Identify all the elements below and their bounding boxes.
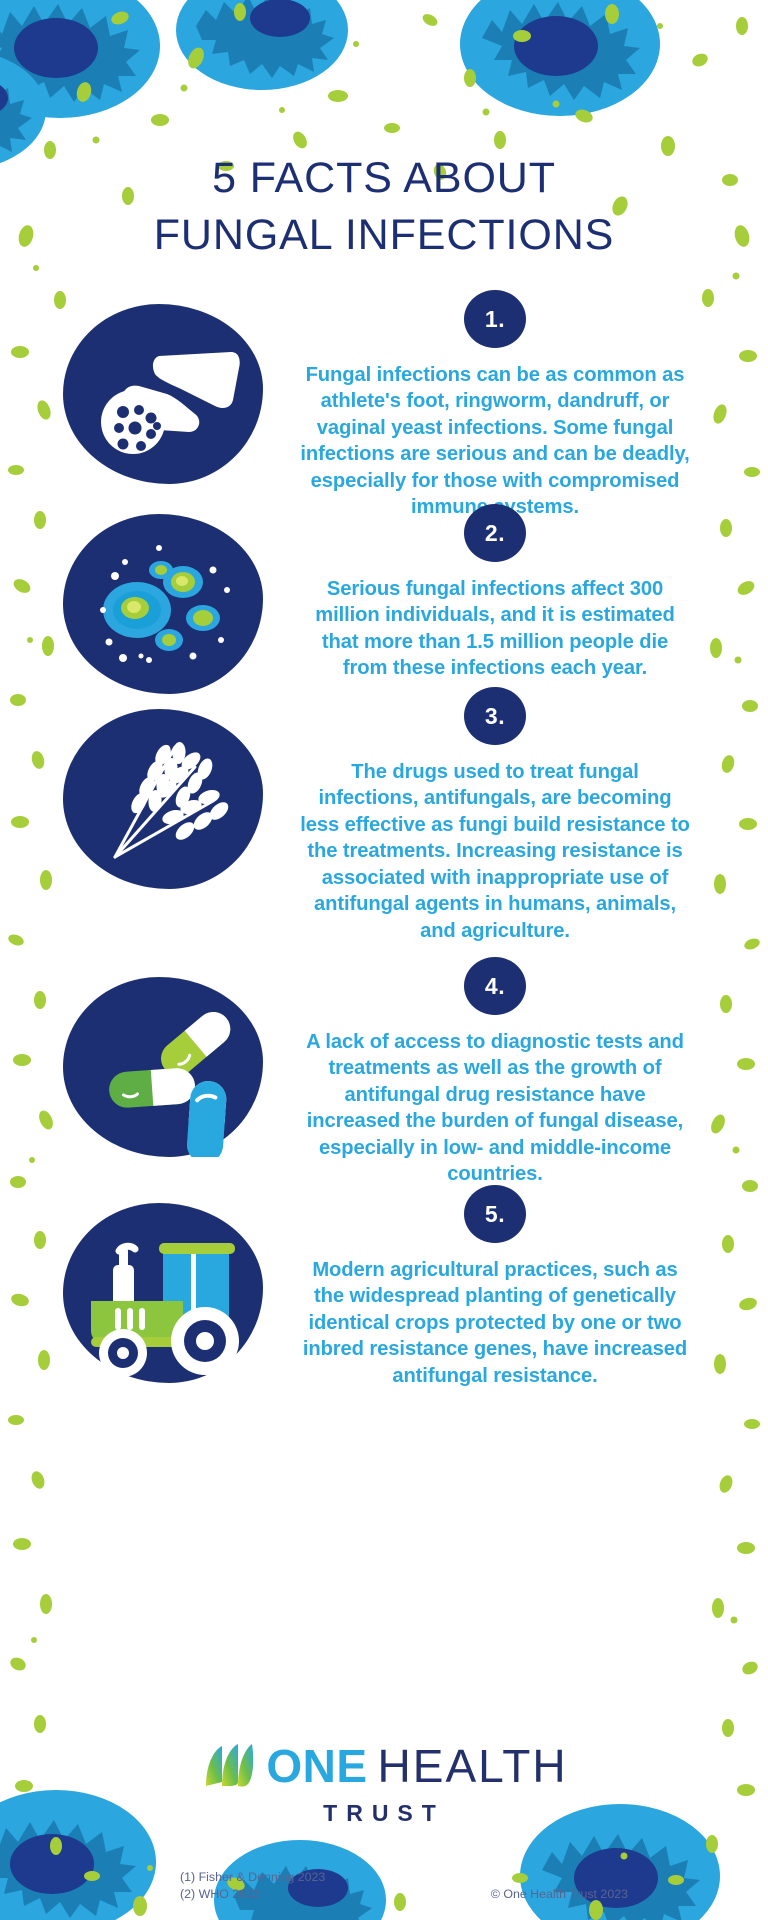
tractor-icon <box>63 1203 263 1383</box>
fact-body-1: 1. Fungal infections can be as common as… <box>300 290 700 521</box>
logo-row[interactable]: ONE HEALTH <box>0 1742 768 1790</box>
wheat-stalks-icon <box>63 709 263 889</box>
fact-item-5: 5. Modern agricultural practices, such a… <box>0 1185 768 1385</box>
foot-fungus-icon <box>63 304 263 484</box>
fact-text-1: Fungal infections can be as common as at… <box>300 362 690 521</box>
fact-number-badge-5: 5. <box>464 1185 526 1243</box>
title-line-2: FUNGAL INFECTIONS <box>0 207 768 264</box>
facts-list: 1. Fungal infections can be as common as… <box>0 290 768 1385</box>
fact-number-badge-3: 3. <box>464 687 526 745</box>
petri-dish-colonies-icon <box>63 514 263 694</box>
cell-top-left <box>0 0 160 118</box>
infographic-page: 5 FACTS ABOUT FUNGAL INFECTIONS <box>0 0 768 1920</box>
citation-1: (1) Fisher & Denning 2023 <box>180 1869 325 1885</box>
cell-top-right <box>460 0 660 116</box>
fact-body-3: 3. The drugs used to treat fungal infect… <box>300 687 700 944</box>
citation-2: (2) WHO 2022 <box>180 1886 325 1902</box>
brand-logo[interactable]: ONE HEALTH TRUST <box>0 1742 768 1827</box>
leaf-mark-icon <box>200 1742 256 1790</box>
fact-item-2: 2. Serious fungal infections affect 300 … <box>0 504 768 687</box>
logo-text-trust: TRUST <box>0 1800 768 1827</box>
cell-top-mid <box>176 0 348 90</box>
footer-citations: (1) Fisher & Denning 2023 (2) WHO 2022 <box>180 1869 325 1902</box>
fact-item-4: 4. A lack of access to diagnostic tests … <box>0 957 768 1185</box>
footer-copyright: © One Health Trust 2023 <box>491 1886 628 1902</box>
fact-body-2: 2. Serious fungal infections affect 300 … <box>300 504 700 682</box>
fact-text-5: Modern agricultural practices, such as t… <box>300 1257 690 1389</box>
fact-text-2: Serious fungal infections affect 300 mil… <box>300 576 690 682</box>
title-line-1: 5 FACTS ABOUT <box>0 150 768 207</box>
fact-number-badge-4: 4. <box>464 957 526 1015</box>
fact-item-1: 1. Fungal infections can be as common as… <box>0 290 768 504</box>
fact-body-4: 4. A lack of access to diagnostic tests … <box>300 957 700 1188</box>
fact-text-3: The drugs used to treat fungal infection… <box>300 759 690 944</box>
page-title: 5 FACTS ABOUT FUNGAL INFECTIONS <box>0 150 768 264</box>
footer: (1) Fisher & Denning 2023 (2) WHO 2022 ©… <box>0 1869 768 1902</box>
fact-text-4: A lack of access to diagnostic tests and… <box>300 1029 690 1188</box>
fact-item-3: 3. The drugs used to treat fungal infect… <box>0 687 768 957</box>
fact-body-5: 5. Modern agricultural practices, such a… <box>300 1185 700 1389</box>
logo-text-one: ONE <box>266 1743 367 1789</box>
fact-number-badge-2: 2. <box>464 504 526 562</box>
pill-capsules-icon <box>63 977 263 1157</box>
logo-text-health: HEALTH <box>378 1743 568 1789</box>
fact-number-badge-1: 1. <box>464 290 526 348</box>
